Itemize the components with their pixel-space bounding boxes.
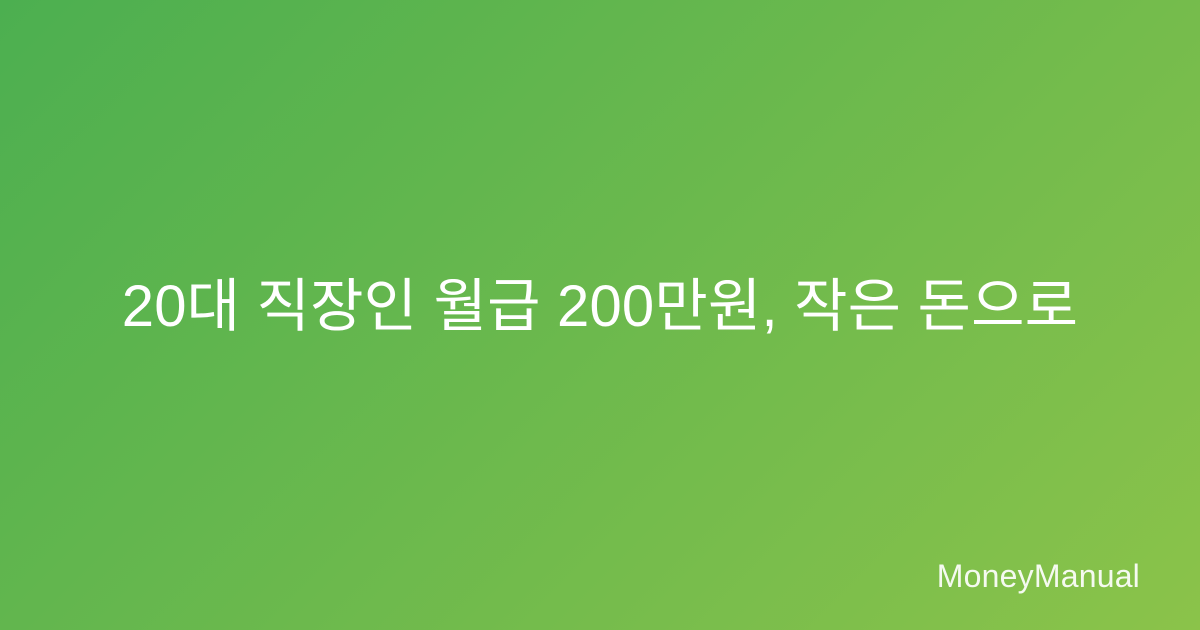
- page-title: 20대 직장인 월급 200만원, 작은 돈으로: [122, 270, 1078, 344]
- social-share-card: 20대 직장인 월급 200만원, 작은 돈으로 MoneyManual: [0, 0, 1200, 630]
- brand-watermark: MoneyManual: [937, 560, 1140, 592]
- title-container: 20대 직장인 월급 200만원, 작은 돈으로: [0, 0, 1200, 622]
